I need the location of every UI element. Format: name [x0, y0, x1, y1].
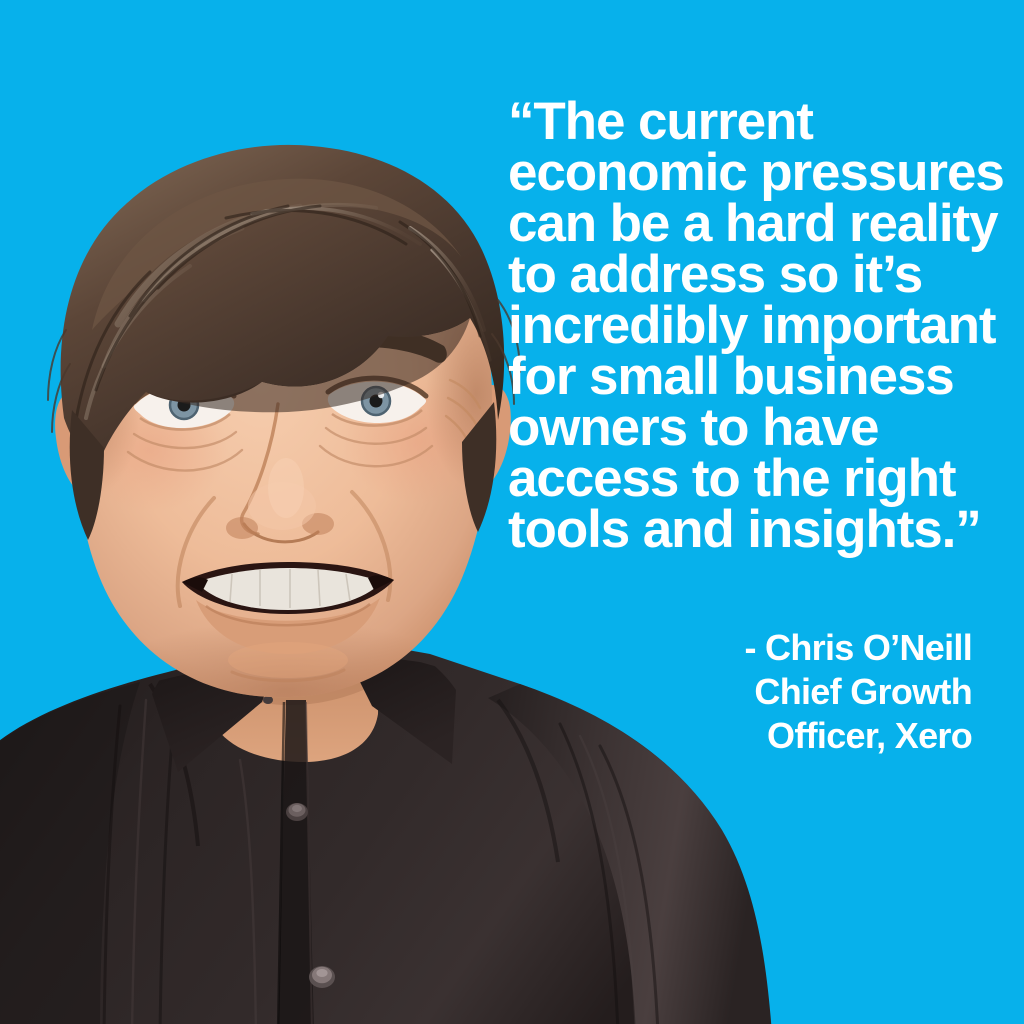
portrait-ear	[55, 391, 100, 500]
quote-line: economic pressures	[508, 147, 1000, 198]
quote-line: can be a hard reality	[508, 198, 1000, 249]
portrait-eyebrow	[316, 327, 446, 363]
portrait-mouth	[182, 562, 394, 614]
quote-line: access to the right	[508, 453, 1000, 504]
quote-line: to address so it’s	[508, 249, 1000, 300]
portrait-neck	[205, 596, 380, 762]
shirt-button	[309, 966, 335, 988]
quote-line: incredibly important	[508, 300, 1000, 351]
attribution-company: Officer, Xero	[552, 714, 972, 758]
attribution-name: - Chris O’Neill	[552, 626, 972, 670]
portrait-collar	[152, 606, 456, 1024]
quote-line: “The current	[508, 96, 1000, 147]
portrait-eye	[134, 382, 234, 430]
shirt-button	[286, 803, 308, 821]
portrait-eyebrow	[113, 331, 247, 367]
quote-line: tools and insights.”	[508, 504, 1000, 555]
quote-text: “The current economic pressures can be a…	[508, 96, 1000, 555]
portrait-ear	[466, 385, 511, 494]
attribution: - Chris O’Neill Chief Growth Officer, Xe…	[552, 626, 972, 758]
portrait-face	[42, 168, 526, 760]
portrait-hair	[48, 145, 520, 540]
quote-line: owners to have	[508, 402, 1000, 453]
quote-line: for small business	[508, 351, 1000, 402]
attribution-title: Chief Growth	[552, 670, 972, 714]
portrait-eye	[328, 378, 426, 425]
quote-card: “The current economic pressures can be a…	[0, 0, 1024, 1024]
